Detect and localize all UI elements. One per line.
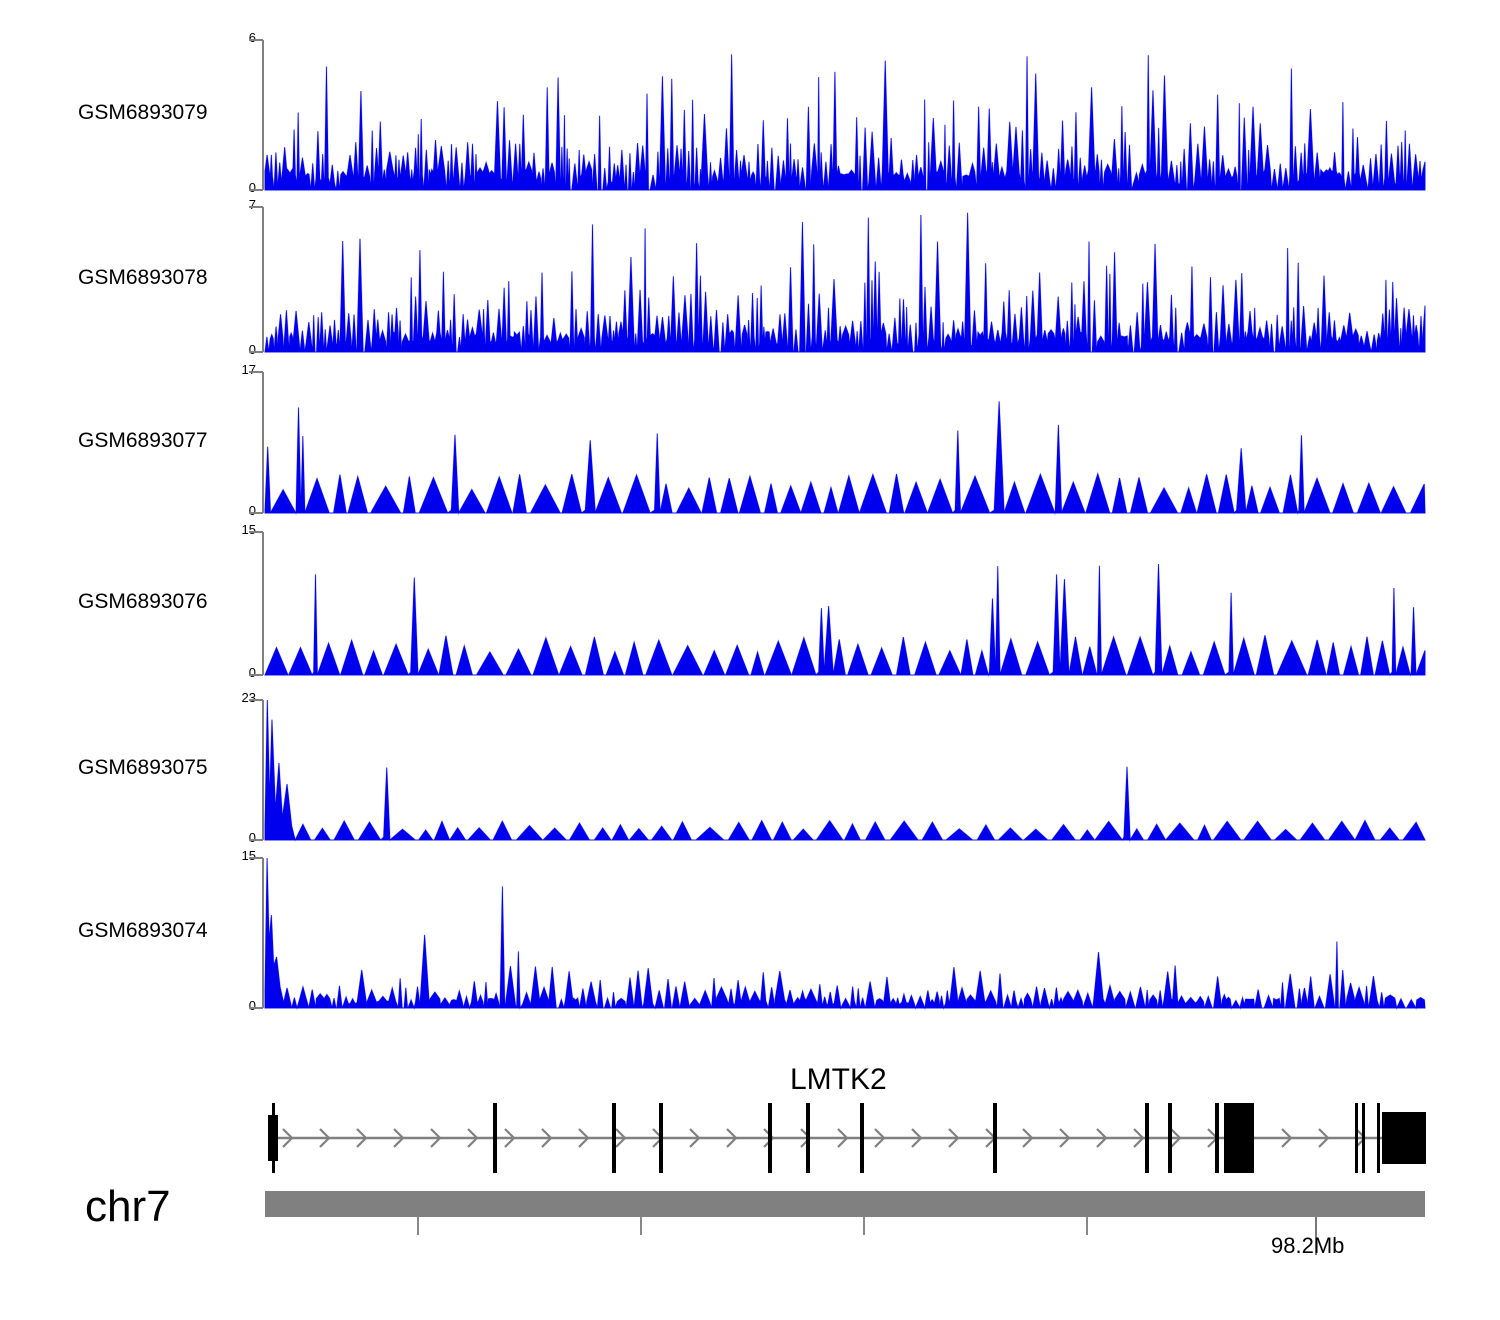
coverage-plot[interactable] bbox=[0, 366, 1500, 521]
coverage-plot[interactable] bbox=[0, 201, 1500, 360]
genome-browser-figure: GSM689307960GSM689307870GSM6893077170GSM… bbox=[0, 0, 1500, 1320]
y-axis-bracket bbox=[249, 700, 263, 840]
coverage-area bbox=[265, 564, 1425, 675]
exon-tick[interactable] bbox=[612, 1103, 616, 1173]
exon-tick[interactable] bbox=[1215, 1103, 1219, 1173]
coverage-plot[interactable] bbox=[0, 852, 1500, 1016]
exon-tick[interactable] bbox=[272, 1103, 275, 1173]
exon-tick[interactable] bbox=[1377, 1103, 1380, 1173]
coverage-area-halo bbox=[265, 858, 1425, 1008]
coordinate-tick-label: 98.2Mb bbox=[1271, 1233, 1344, 1259]
y-axis-bracket bbox=[249, 40, 263, 190]
coverage-area bbox=[265, 213, 1425, 352]
coverage-area bbox=[265, 858, 1425, 1008]
exon-block[interactable] bbox=[1382, 1112, 1426, 1164]
coverage-area bbox=[265, 401, 1425, 513]
exon-tick[interactable] bbox=[806, 1103, 810, 1173]
exon-tick[interactable] bbox=[1355, 1103, 1358, 1173]
coverage-area bbox=[265, 54, 1425, 190]
exon-tick[interactable] bbox=[1168, 1103, 1172, 1173]
y-axis-bracket bbox=[249, 207, 263, 352]
exon-tick[interactable] bbox=[860, 1103, 864, 1173]
exon-tick[interactable] bbox=[659, 1103, 663, 1173]
ideogram-bar[interactable] bbox=[265, 1191, 1425, 1217]
coverage-area-halo bbox=[265, 700, 1425, 840]
exon-tick[interactable] bbox=[993, 1103, 997, 1173]
coverage-area bbox=[265, 700, 1425, 840]
exon-tick[interactable] bbox=[1362, 1103, 1365, 1173]
coverage-plot[interactable] bbox=[0, 34, 1500, 198]
coverage-area-halo bbox=[265, 564, 1425, 675]
coverage-plot[interactable] bbox=[0, 526, 1500, 683]
exon-tick[interactable] bbox=[493, 1103, 497, 1173]
gene-model-track[interactable] bbox=[0, 1096, 1500, 1182]
exon-block[interactable] bbox=[1224, 1103, 1254, 1173]
y-axis-bracket bbox=[249, 858, 263, 1008]
exon-tick[interactable] bbox=[768, 1103, 772, 1173]
coverage-plot[interactable] bbox=[0, 694, 1500, 848]
exon-tick[interactable] bbox=[1145, 1103, 1149, 1173]
y-axis-bracket bbox=[249, 532, 263, 675]
gene-name-label: LMTK2 bbox=[790, 1063, 887, 1097]
y-axis-bracket bbox=[249, 372, 263, 513]
